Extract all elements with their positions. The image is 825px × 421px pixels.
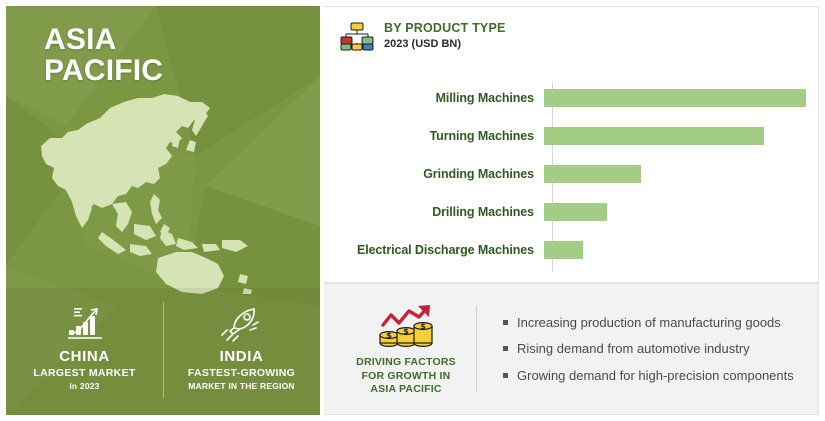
driving-factors-caption: DRIVING FACTORS FOR GROWTH IN ASIA PACIF…	[338, 356, 474, 396]
driving-factors-caption-line-2: FOR GROWTH IN	[338, 370, 474, 383]
region-title-line-1: ASIA	[44, 23, 116, 56]
stat-china-country: CHINA	[6, 348, 163, 365]
svg-text:$: $	[386, 331, 392, 340]
chart-header-text: BY PRODUCT TYPE 2023 (USD BN)	[384, 21, 506, 51]
driving-factors-caption-line-1: DRIVING FACTORS	[338, 356, 474, 369]
stat-china-descriptor: LARGEST MARKET	[6, 367, 163, 380]
bar-chart-plot: Milling Machines Turning Machines Grindi…	[324, 79, 819, 275]
bar-value	[544, 165, 641, 183]
bar-label: Electrical Discharge Machines	[324, 243, 542, 257]
bar-track	[542, 117, 819, 155]
bar-row: Electrical Discharge Machines	[324, 231, 819, 269]
svg-text:$: $	[403, 327, 409, 336]
driving-factors-panel: $ $ $ DRIVING FACTORS FOR GROWTH IN ASIA…	[324, 283, 819, 415]
stat-china-note: In 2023	[6, 381, 163, 391]
rising-coins-growth-icon: $ $ $	[338, 301, 474, 351]
bar-track	[542, 193, 819, 231]
bar-label: Milling Machines	[324, 91, 542, 105]
bar-track	[542, 155, 819, 193]
bar-row: Drilling Machines	[324, 193, 819, 231]
list-item: Rising demand from automotive industry	[503, 340, 804, 357]
bar-track	[542, 231, 819, 269]
region-panel: ASIA PACIFIC	[6, 6, 320, 415]
bar-label: Drilling Machines	[324, 205, 542, 219]
driving-factors-brand: $ $ $ DRIVING FACTORS FOR GROWTH IN ASIA…	[324, 301, 474, 396]
chart-subtitle: 2023 (USD BN)	[384, 37, 506, 51]
stat-india: INDIA FASTEST-GROWING MARKET IN THE REGI…	[163, 288, 320, 391]
growth-chart-arrow-icon	[6, 302, 163, 344]
bar-value	[544, 89, 806, 107]
bar-row: Grinding Machines	[324, 155, 819, 193]
driving-factors-list: Increasing production of manufacturing g…	[477, 314, 818, 383]
hierarchy-org-chart-icon	[340, 21, 374, 51]
product-type-chart-panel: BY PRODUCT TYPE 2023 (USD BN) Milling Ma…	[324, 6, 819, 283]
region-title-line-2: PACIFIC	[44, 55, 163, 86]
rocket-icon	[163, 302, 320, 344]
svg-text:$: $	[420, 322, 426, 331]
bar-value	[544, 241, 583, 259]
stat-india-country: INDIA	[163, 348, 320, 365]
page-title: ASIA PACIFIC	[44, 24, 163, 86]
chart-header: BY PRODUCT TYPE 2023 (USD BN)	[340, 21, 506, 51]
bar-label: Grinding Machines	[324, 167, 542, 181]
stat-india-note: MARKET IN THE REGION	[163, 381, 320, 391]
infographic-root: ASIA PACIFIC	[0, 0, 825, 421]
bar-value	[544, 203, 607, 221]
bar-row: Milling Machines	[324, 79, 819, 117]
bar-track	[542, 79, 819, 117]
region-stats-strip: CHINA LARGEST MARKET In 2023	[6, 288, 320, 415]
stat-india-descriptor: FASTEST-GROWING	[163, 367, 320, 380]
bar-value	[544, 127, 764, 145]
bar-label: Turning Machines	[324, 129, 542, 143]
asia-pacific-map-icon	[6, 68, 320, 294]
driving-factors-caption-line-3: ASIA PACIFIC	[338, 383, 474, 396]
stat-china: CHINA LARGEST MARKET In 2023	[6, 288, 163, 391]
chart-title: BY PRODUCT TYPE	[384, 21, 506, 35]
list-item: Increasing production of manufacturing g…	[503, 314, 804, 331]
bar-row: Turning Machines	[324, 117, 819, 155]
list-item: Growing demand for high-precision compon…	[503, 367, 804, 384]
